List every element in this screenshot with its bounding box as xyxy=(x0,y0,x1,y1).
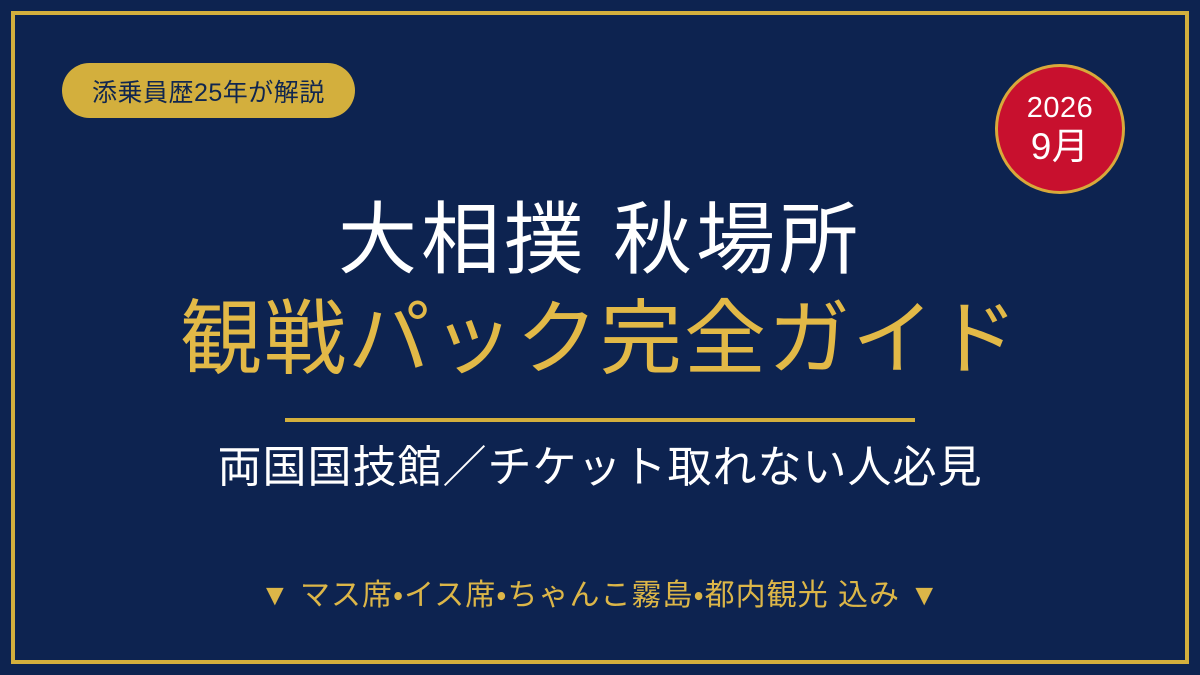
date-badge-year: 2026 xyxy=(1027,94,1094,123)
thumbnail-canvas: 添乗員歴25年が解説 2026 9月 大相撲 秋場所 観戦パック完全ガイド 両国… xyxy=(0,0,1200,675)
footer-inclusions-text: ▼ マス席・イス席・ちゃんこ霧島・都内観光 込み ▼ xyxy=(0,570,1200,614)
gold-divider-rule xyxy=(285,418,915,422)
date-badge: 2026 9月 xyxy=(995,64,1125,194)
divider-wrap xyxy=(0,418,1200,422)
eyebrow-badge-label: 添乗員歴25年が解説 xyxy=(92,73,325,109)
headline-block: 大相撲 秋場所 観戦パック完全ガイド 両国国技館／チケット取れない人必見 xyxy=(0,196,1200,495)
eyebrow-badge: 添乗員歴25年が解説 xyxy=(62,63,355,118)
title-primary: 大相撲 秋場所 xyxy=(0,196,1200,284)
subtitle-text: 両国国技館／チケット取れない人必見 xyxy=(0,442,1200,495)
date-badge-month: 9月 xyxy=(1031,128,1090,165)
title-secondary: 観戦パック完全ガイド xyxy=(0,294,1200,386)
